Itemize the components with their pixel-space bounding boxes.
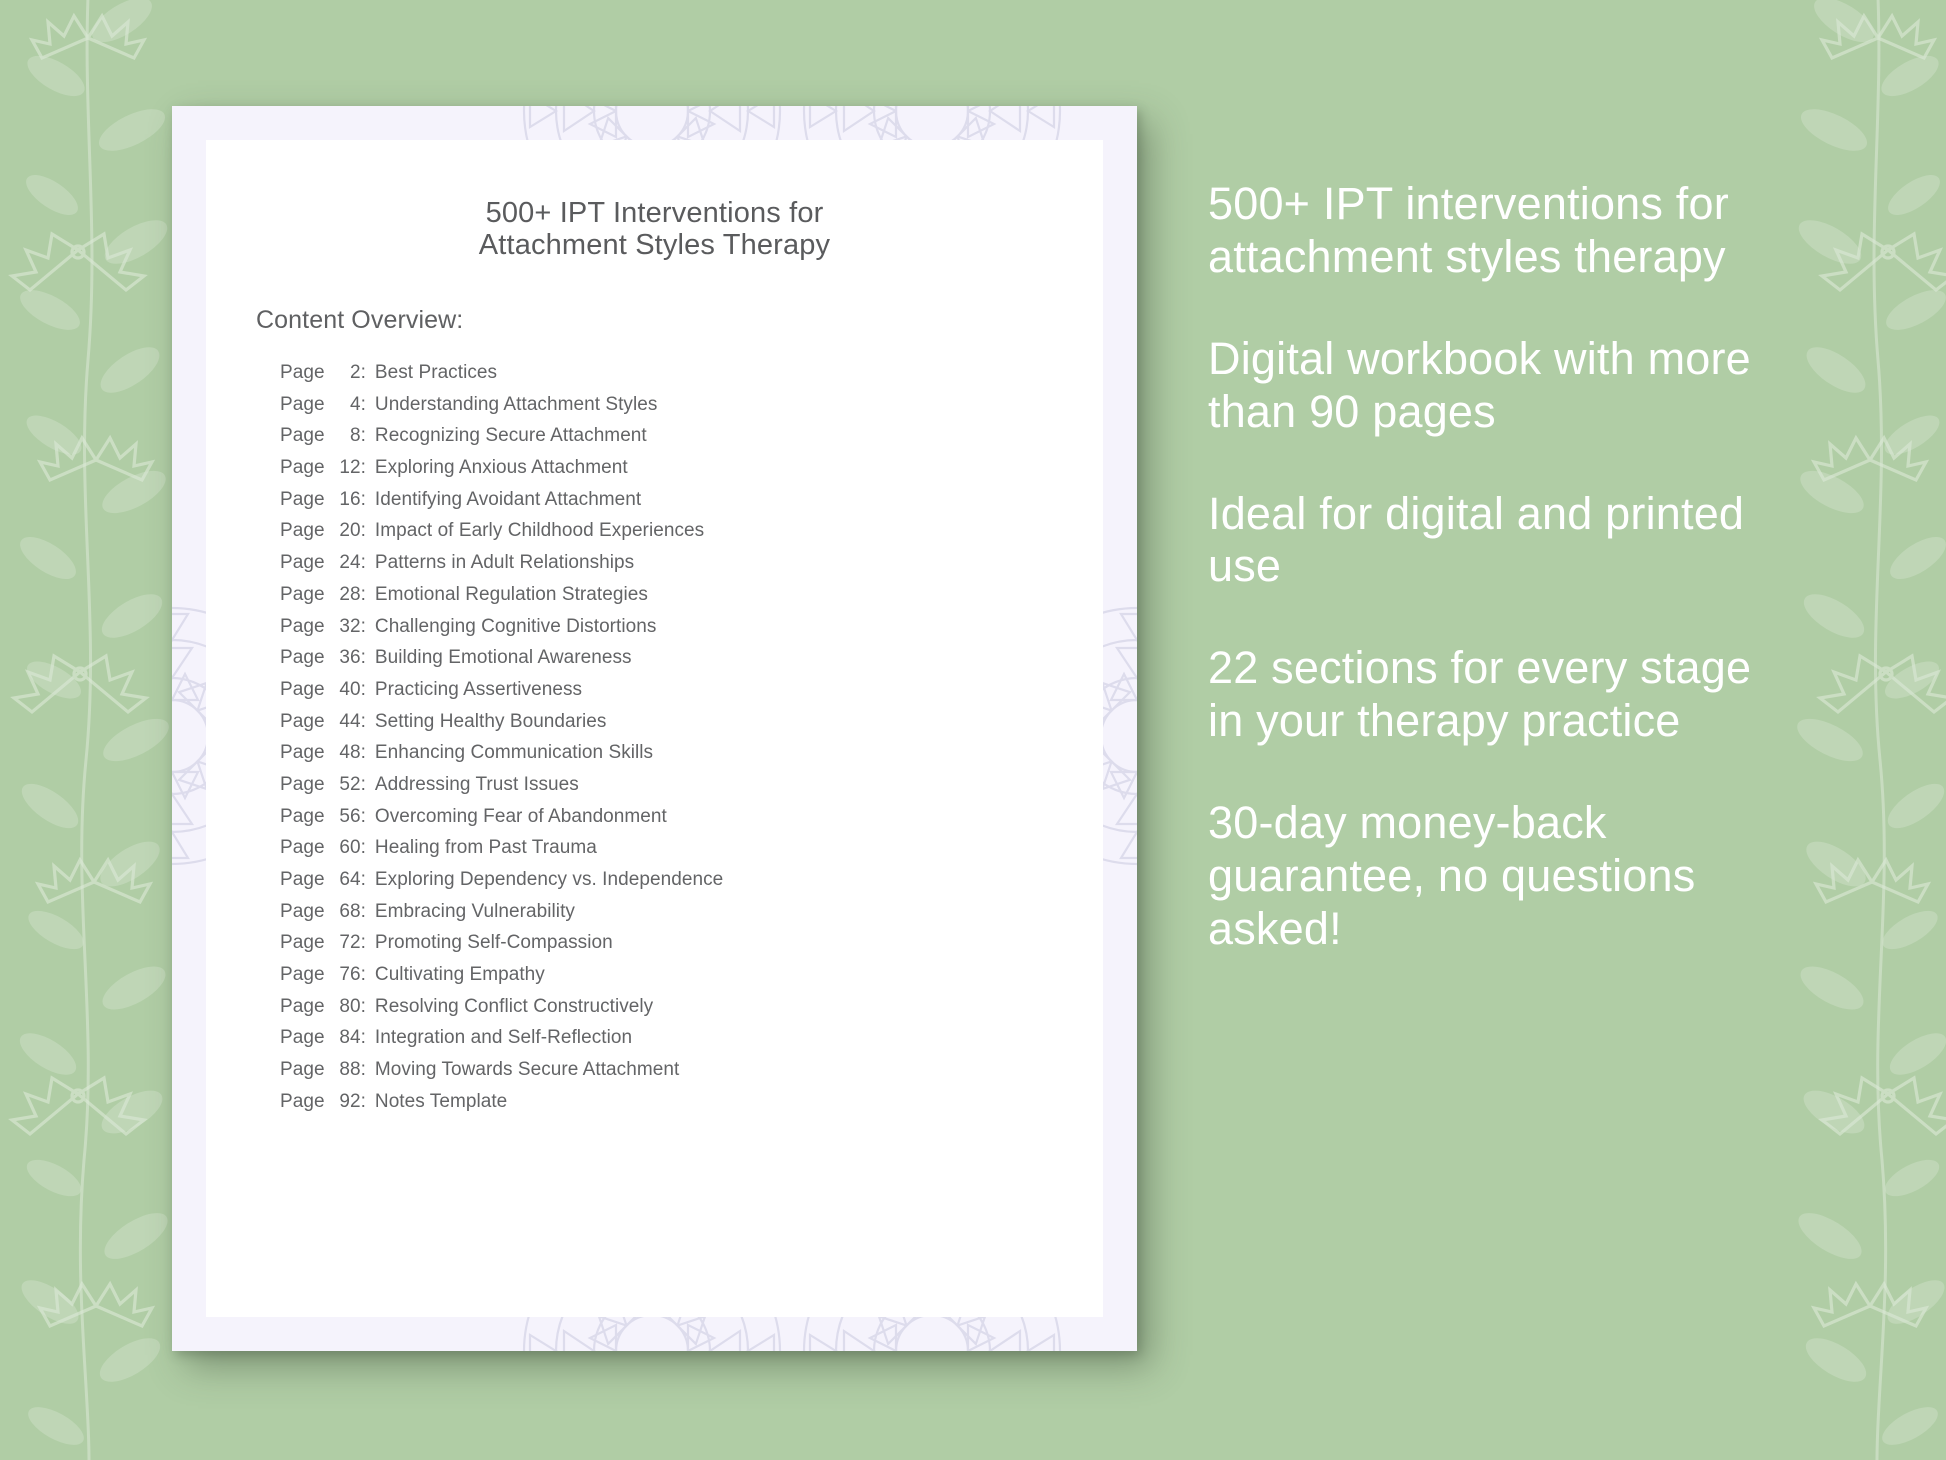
toc-entry-title: Setting Healthy Boundaries: [375, 711, 607, 733]
toc-entry-title: Embracing Vulnerability: [375, 901, 575, 923]
toc-entry[interactable]: Page4:Understanding Attachment Styles: [280, 394, 1083, 426]
toc-entry-title: Cultivating Empathy: [375, 964, 545, 986]
toc-entry[interactable]: Page2:Best Practices: [280, 362, 1083, 394]
toc-entry[interactable]: Page24:Patterns in Adult Relationships: [280, 552, 1083, 584]
toc-entry-title: Building Emotional Awareness: [375, 647, 632, 669]
toc-entry-page-number: 52: [332, 774, 361, 796]
toc-entry[interactable]: Page76:Cultivating Empathy: [280, 964, 1083, 996]
toc-entry-page-number: 68: [332, 901, 361, 923]
toc-entry[interactable]: Page8:Recognizing Secure Attachment: [280, 425, 1083, 457]
paper-frame: 500+ IPT Interventions for Attachment St…: [172, 106, 1137, 1351]
toc-entry-page-word: Page: [280, 806, 325, 828]
toc-entry-title: Challenging Cognitive Distortions: [375, 616, 657, 638]
toc-entry-colon: :: [361, 1027, 366, 1049]
toc-entry-title: Healing from Past Trauma: [375, 837, 597, 859]
toc-entry-page-number: 92: [332, 1091, 361, 1113]
toc-entry[interactable]: Page92:Notes Template: [280, 1091, 1083, 1123]
toc-entry-page-word: Page: [280, 394, 325, 416]
marketing-bullet: 30-day money-back guarantee, no question…: [1208, 797, 1798, 956]
toc-entry-page-word: Page: [280, 1027, 325, 1049]
toc-entry-page-word: Page: [280, 932, 325, 954]
toc-entry-page-word: Page: [280, 996, 325, 1018]
toc-entry[interactable]: Page48:Enhancing Communication Skills: [280, 742, 1083, 774]
toc-entry[interactable]: Page52:Addressing Trust Issues: [280, 774, 1083, 806]
toc-entry-colon: :: [361, 457, 366, 479]
toc-entry-title: Identifying Avoidant Attachment: [375, 489, 641, 511]
toc-entry[interactable]: Page12:Exploring Anxious Attachment: [280, 457, 1083, 489]
toc-entry-colon: :: [361, 584, 366, 606]
toc-entry-page-number: 12: [332, 457, 361, 479]
marketing-bullet: 22 sections for every stage in your ther…: [1208, 642, 1798, 748]
toc-entry-colon: :: [361, 806, 366, 828]
marketing-bullet: Ideal for digital and printed use: [1208, 488, 1798, 594]
content-overview-label: Content Overview:: [256, 306, 463, 335]
toc-entry-page-word: Page: [280, 774, 325, 796]
toc-entry-page-word: Page: [280, 425, 325, 447]
toc-entry-title: Emotional Regulation Strategies: [375, 584, 648, 606]
toc-entry-colon: :: [361, 616, 366, 638]
toc-entry-page-number: 20: [332, 520, 361, 542]
toc-entry-title: Resolving Conflict Constructively: [375, 996, 653, 1018]
toc-entry[interactable]: Page36:Building Emotional Awareness: [280, 647, 1083, 679]
toc-entry-title: Best Practices: [375, 362, 497, 384]
toc-entry-page-word: Page: [280, 362, 325, 384]
toc-entry-page-word: Page: [280, 520, 325, 542]
toc-entry[interactable]: Page28:Emotional Regulation Strategies: [280, 584, 1083, 616]
toc-entry-colon: :: [361, 1091, 366, 1113]
toc-entry-page-number: 64: [332, 869, 361, 891]
toc-entry[interactable]: Page80:Resolving Conflict Constructively: [280, 996, 1083, 1028]
toc-entry-title: Overcoming Fear of Abandonment: [375, 806, 667, 828]
toc-entry-colon: :: [361, 837, 366, 859]
toc-entry-colon: :: [361, 1059, 366, 1081]
marketing-bullet: 500+ IPT interventions for attachment st…: [1208, 178, 1798, 284]
toc-entry-colon: :: [361, 394, 366, 416]
toc-entry-title: Recognizing Secure Attachment: [375, 425, 647, 447]
toc-entry-page-word: Page: [280, 711, 325, 733]
toc-entry[interactable]: Page56:Overcoming Fear of Abandonment: [280, 806, 1083, 838]
toc-entry-colon: :: [361, 774, 366, 796]
toc-entry[interactable]: Page16:Identifying Avoidant Attachment: [280, 489, 1083, 521]
toc-entry-title: Enhancing Communication Skills: [375, 742, 653, 764]
toc-entry-colon: :: [361, 647, 366, 669]
marketing-bullet: Digital workbook with more than 90 pages: [1208, 333, 1798, 439]
toc-entry-page-word: Page: [280, 742, 325, 764]
toc-entry[interactable]: Page20:Impact of Early Childhood Experie…: [280, 520, 1083, 552]
toc-entry-colon: :: [361, 425, 366, 447]
toc-entry-page-number: 76: [332, 964, 361, 986]
document-preview[interactable]: 500+ IPT Interventions for Attachment St…: [172, 106, 1137, 1351]
toc-entry-page-number: 48: [332, 742, 361, 764]
document-title-line-2: Attachment Styles Therapy: [206, 230, 1103, 262]
promo-graphic: 500+ IPT Interventions for Attachment St…: [0, 0, 1946, 1460]
toc-entry-title: Patterns in Adult Relationships: [375, 552, 634, 574]
toc-entry-colon: :: [361, 520, 366, 542]
toc-entry-page-word: Page: [280, 616, 325, 638]
toc-entry-page-word: Page: [280, 1091, 325, 1113]
toc-entry-page-number: 28: [332, 584, 361, 606]
toc-entry[interactable]: Page60:Healing from Past Trauma: [280, 837, 1083, 869]
toc-entry-colon: :: [361, 489, 366, 511]
toc-entry[interactable]: Page88:Moving Towards Secure Attachment: [280, 1059, 1083, 1091]
toc-entry-page-number: 60: [332, 837, 361, 859]
toc-entry-title: Notes Template: [375, 1091, 507, 1113]
toc-entry-page-word: Page: [280, 679, 325, 701]
toc-entry-page-number: 36: [332, 647, 361, 669]
toc-entry-page-number: 8: [332, 425, 361, 447]
toc-entry-colon: :: [361, 901, 366, 923]
table-of-contents: Page2:Best PracticesPage4:Understanding …: [280, 362, 1083, 1123]
toc-entry-page-word: Page: [280, 901, 325, 923]
toc-entry-colon: :: [361, 996, 366, 1018]
toc-entry-page-number: 40: [332, 679, 361, 701]
toc-entry-colon: :: [361, 964, 366, 986]
toc-entry-page-word: Page: [280, 552, 325, 574]
toc-entry[interactable]: Page68:Embracing Vulnerability: [280, 901, 1083, 933]
toc-entry-title: Addressing Trust Issues: [375, 774, 579, 796]
toc-entry[interactable]: Page40:Practicing Assertiveness: [280, 679, 1083, 711]
toc-entry-page-number: 44: [332, 711, 361, 733]
toc-entry-page-word: Page: [280, 1059, 325, 1081]
toc-entry-colon: :: [361, 869, 366, 891]
toc-entry-title: Promoting Self-Compassion: [375, 932, 613, 954]
toc-entry-page-word: Page: [280, 489, 325, 511]
toc-entry[interactable]: Page64:Exploring Dependency vs. Independ…: [280, 869, 1083, 901]
toc-entry-title: Exploring Anxious Attachment: [375, 457, 628, 479]
toc-entry[interactable]: Page72:Promoting Self-Compassion: [280, 932, 1083, 964]
toc-entry-page-word: Page: [280, 837, 325, 859]
document-title: 500+ IPT Interventions for Attachment St…: [206, 198, 1103, 261]
document-title-line-1: 500+ IPT Interventions for: [206, 198, 1103, 230]
toc-entry-title: Practicing Assertiveness: [375, 679, 582, 701]
toc-entry-title: Understanding Attachment Styles: [375, 394, 658, 416]
toc-entry-page-number: 24: [332, 552, 361, 574]
toc-entry-colon: :: [361, 362, 366, 384]
toc-entry-page-number: 72: [332, 932, 361, 954]
document-page: 500+ IPT Interventions for Attachment St…: [206, 140, 1103, 1317]
toc-entry-title: Exploring Dependency vs. Independence: [375, 869, 723, 891]
toc-entry-page-number: 2: [332, 362, 361, 384]
toc-entry-page-number: 88: [332, 1059, 361, 1081]
toc-entry-colon: :: [361, 552, 366, 574]
toc-entry[interactable]: Page44:Setting Healthy Boundaries: [280, 711, 1083, 743]
toc-entry-page-word: Page: [280, 869, 325, 891]
toc-entry-page-number: 84: [332, 1027, 361, 1049]
toc-entry-page-word: Page: [280, 964, 325, 986]
marketing-copy: 500+ IPT interventions for attachment st…: [1208, 178, 1798, 956]
toc-entry-page-number: 4: [332, 394, 361, 416]
toc-entry[interactable]: Page32:Challenging Cognitive Distortions: [280, 616, 1083, 648]
toc-entry-page-number: 16: [332, 489, 361, 511]
toc-entry-title: Integration and Self-Reflection: [375, 1027, 632, 1049]
toc-entry-page-word: Page: [280, 584, 325, 606]
toc-entry-page-number: 32: [332, 616, 361, 638]
toc-entry-colon: :: [361, 932, 366, 954]
toc-entry-page-word: Page: [280, 457, 325, 479]
toc-entry[interactable]: Page84:Integration and Self-Reflection: [280, 1027, 1083, 1059]
toc-entry-colon: :: [361, 711, 366, 733]
toc-entry-colon: :: [361, 679, 366, 701]
toc-entry-colon: :: [361, 742, 366, 764]
toc-entry-page-number: 56: [332, 806, 361, 828]
toc-entry-page-number: 80: [332, 996, 361, 1018]
toc-entry-title: Impact of Early Childhood Experiences: [375, 520, 704, 542]
toc-entry-title: Moving Towards Secure Attachment: [375, 1059, 679, 1081]
toc-entry-page-word: Page: [280, 647, 325, 669]
